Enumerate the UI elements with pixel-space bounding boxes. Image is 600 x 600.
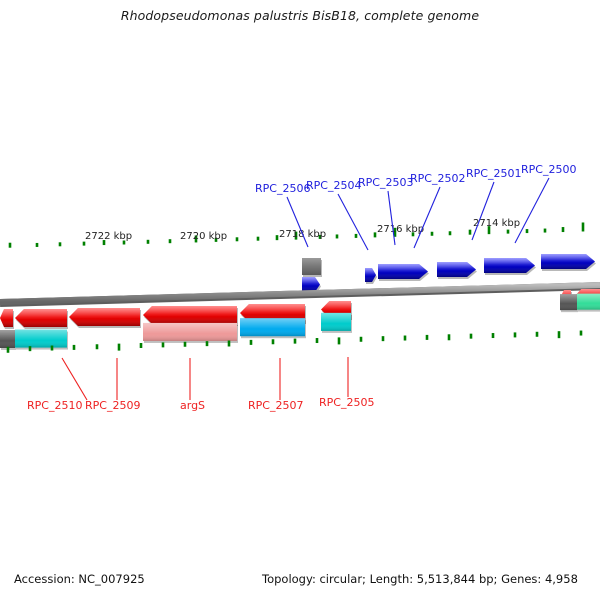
gene-label[interactable]: RPC_2502 [410,172,465,185]
leader-line [472,182,494,240]
scale-label: 2716 kbp [377,224,424,235]
track-highlight [577,294,600,310]
gene-rev-2509[interactable] [69,308,141,328]
gene-highlight [0,309,13,327]
gene-highlight [484,258,535,273]
gene-label[interactable]: RPC_2510 [27,399,82,412]
track-cyan-left[interactable] [15,330,68,350]
genome-diagram: 2722 kbp2720 kbp2718 kbp2716 kbp2714 kbp… [0,0,600,600]
genome-map-canvas: Rhodopseudomonas palustris BisB18, compl… [0,0,600,600]
track-highlight [143,323,237,341]
gene-highlight [69,308,140,326]
track-blue-2507[interactable] [240,318,306,338]
gene-highlight [378,264,428,279]
leader-line [515,178,549,243]
leader-line [338,194,368,250]
gene-rev-edge[interactable] [0,309,14,329]
gene-fwd-2503[interactable] [437,262,477,279]
track-highlight [240,318,305,336]
leader-line [414,187,440,248]
track-highlight [560,294,577,310]
backbone-line [0,285,600,302]
gene-fwd-2504-tip[interactable] [365,268,377,284]
gene-label[interactable]: argS [180,399,205,412]
track-pink-argS[interactable] [143,323,238,343]
gene-label[interactable]: RPC_2503 [358,176,413,189]
gene-fwd-2501[interactable] [541,254,596,271]
gene-label[interactable]: RPC_2506 [255,182,310,195]
scale-label: 2722 kbp [85,231,132,242]
gene-highlight [541,254,595,269]
track-highlight [321,313,351,331]
gray-feature-box[interactable] [302,258,322,277]
gray-box[interactable] [302,258,321,275]
track-teal-2505[interactable] [321,313,352,333]
track-green-right[interactable] [577,294,600,312]
gene-label[interactable]: RPC_2509 [85,399,140,412]
gene-label[interactable]: RPC_2505 [319,396,374,409]
gene-label[interactable]: RPC_2507 [248,399,303,412]
genome-backbone [0,285,600,303]
leader-line [388,191,395,245]
reverse-gene-leader-lines [62,357,348,400]
track-highlight [0,330,15,348]
scale-label: 2720 kbp [180,231,227,242]
track-gray-right[interactable] [560,294,578,312]
track-highlight [15,330,67,348]
forward-gene-labels: RPC_2506RPC_2504RPC_2503RPC_2502RPC_2501… [255,163,576,195]
gene-fwd-2502[interactable] [484,258,536,275]
gene-highlight [15,309,67,327]
genome-stats-text: Topology: circular; Length: 5,513,844 bp… [262,572,578,586]
gene-highlight [143,306,237,324]
accession-text: Accession: NC_007925 [14,572,145,586]
gene-label[interactable]: RPC_2504 [306,179,361,192]
leader-line [62,358,87,400]
reverse-gene-labels: RPC_2510RPC_2509argSRPC_2507RPC_2505 [27,396,374,412]
gene-label[interactable]: RPC_2500 [521,163,576,176]
gene-rev-2510[interactable] [15,309,68,329]
gene-label[interactable]: RPC_2501 [466,167,521,180]
scale-labels: 2722 kbp2720 kbp2718 kbp2716 kbp2714 kbp [85,218,520,242]
gene-fwd-2504[interactable] [378,264,429,281]
